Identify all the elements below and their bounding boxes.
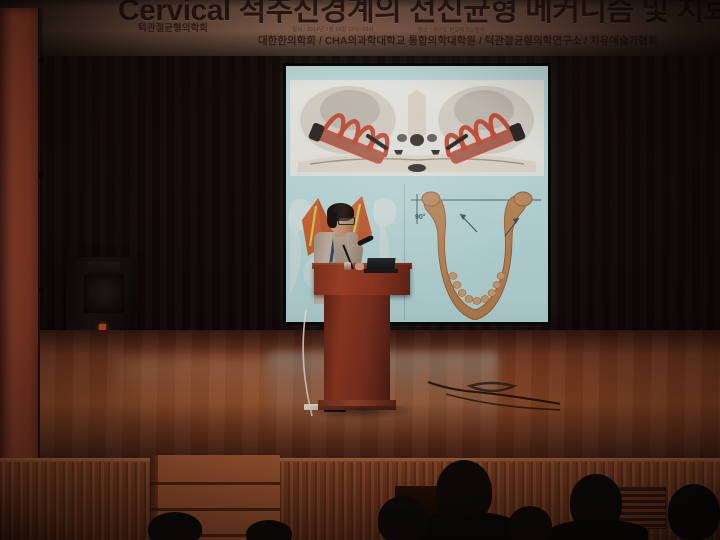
step-edge: [150, 508, 280, 511]
pillar-clip-icon: [39, 58, 43, 63]
conference-banner: Cervical 척추신경계의 전신균형 메커니즘 및 치료법 턱관절균형의학회…: [0, 0, 720, 56]
pillar-clip-icon: [39, 173, 43, 178]
banner-hosts-line: 대한한의학회 / CHA의과학대학교 통합의학대학원 / 턱관절균형의학연구소 …: [258, 33, 720, 48]
slide-top-panel: [290, 80, 544, 176]
podium-column: [324, 295, 390, 407]
audience-head: [508, 506, 552, 540]
skull-base-ct-figure: [290, 80, 544, 176]
banner-org-label: 턱관절균형의학회: [138, 20, 208, 34]
audience-head: [668, 484, 720, 540]
floor-warm-spill: [120, 358, 270, 428]
banner-date-meta: 일시 : 2014년 1월 19일 12시~19시: [292, 25, 373, 33]
audience-head: [246, 520, 292, 540]
podium-shadow: [306, 406, 414, 420]
glasses-icon: [338, 217, 355, 225]
audience-head: [148, 512, 202, 540]
pa-speaker-woofer: [84, 275, 124, 313]
presenter-hand: [355, 263, 364, 270]
laptop-base: [364, 269, 398, 273]
slide-right-panel: 90°: [404, 184, 547, 320]
hall-wall-pillar: [0, 8, 40, 470]
desk-object: [344, 262, 351, 270]
audience-shoulders: [548, 520, 648, 540]
pillar-clip-icon: [39, 288, 43, 293]
pa-speaker-horn: [88, 262, 120, 275]
lecture-hall-photo: Cervical 척추신경계의 전신균형 메커니즘 및 치료법 턱관절균형의학회…: [0, 0, 720, 540]
banner-title: Cervical 척추신경계의 전신균형 메커니즘 및 치료법: [118, 0, 720, 29]
mandible-figure: [405, 184, 547, 320]
angle-annotation: 90°: [415, 214, 426, 221]
audience-shoulders: [412, 512, 520, 540]
presenter-hair-back: [327, 212, 337, 228]
step-edge: [150, 482, 280, 485]
audience-head: [378, 496, 428, 540]
